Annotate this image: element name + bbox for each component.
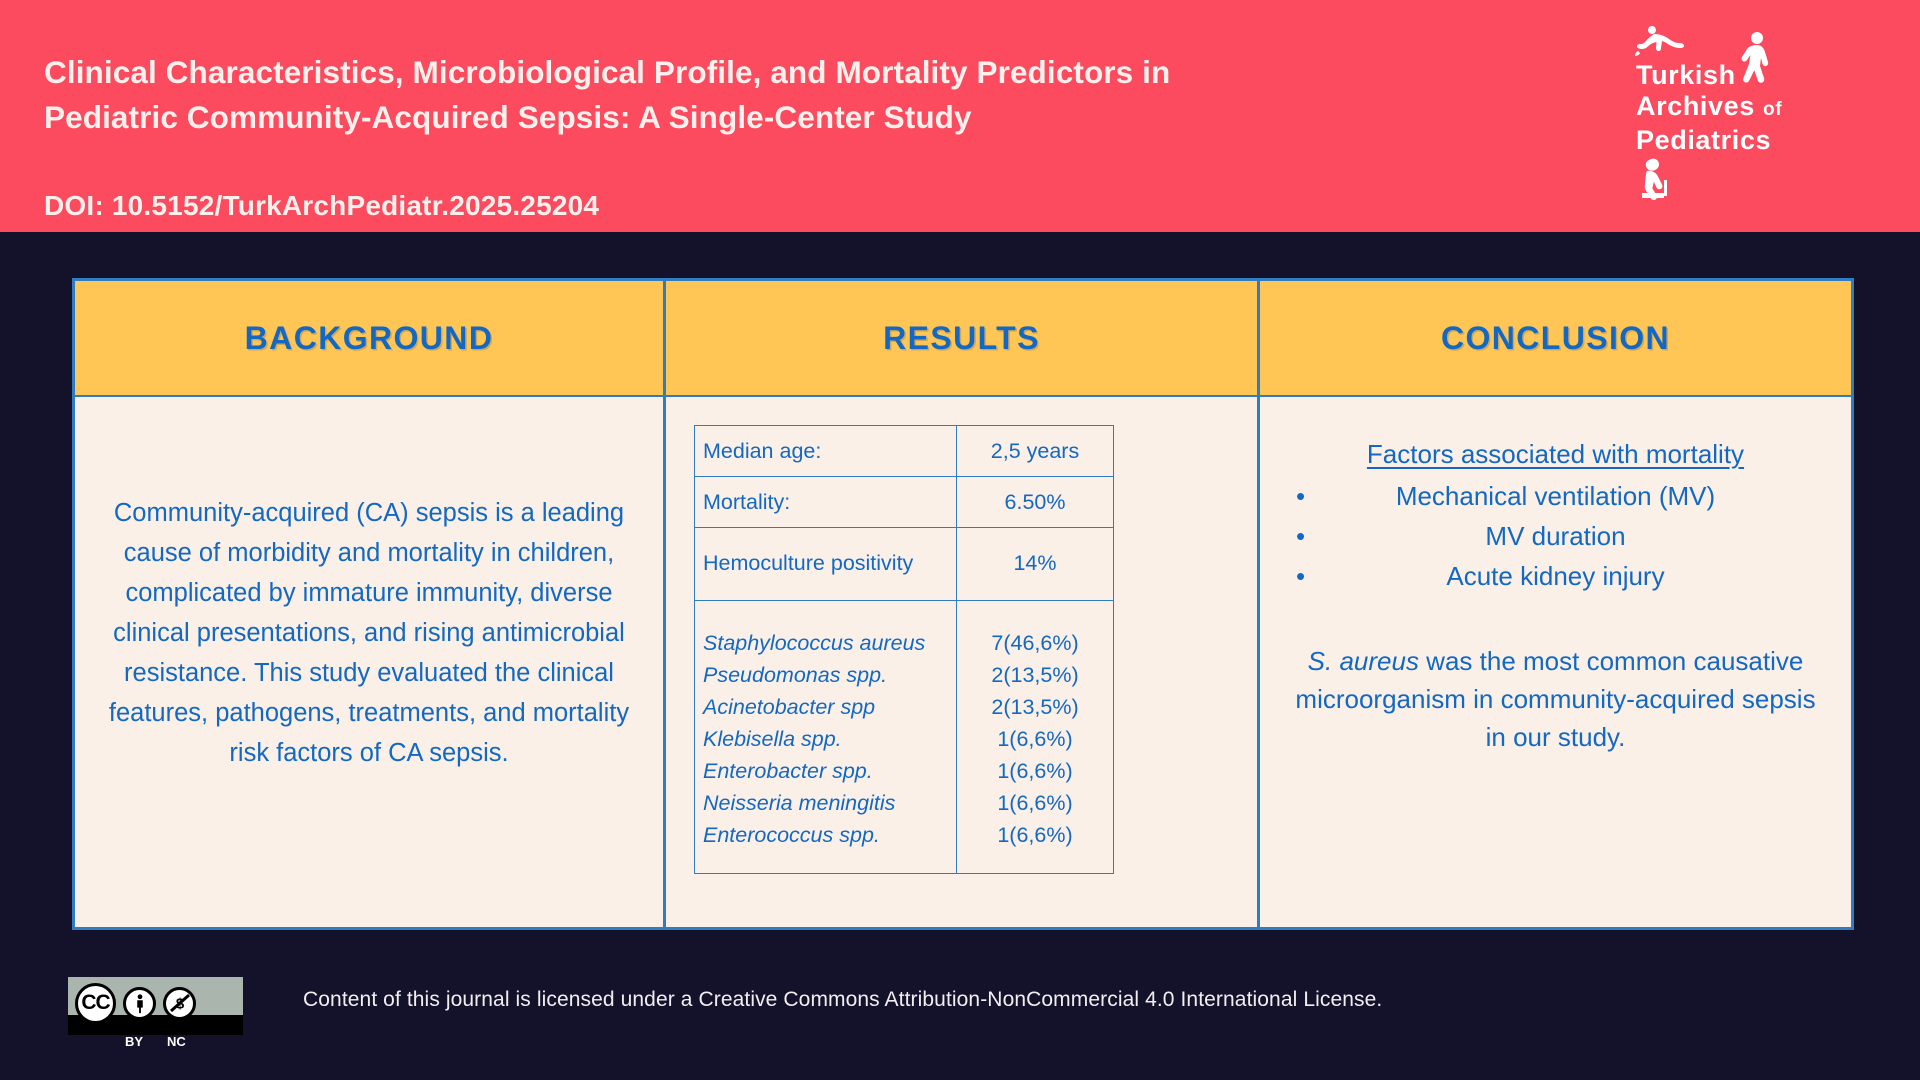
column-results: RESULTS Median age: 2,5 years Mortality:… — [666, 281, 1260, 927]
organism-count: 2(13,5%) — [957, 659, 1113, 691]
sitting-child-icon — [1634, 158, 1678, 200]
organism-count: 1(6,6%) — [957, 755, 1113, 787]
results-stat-value: 6.50% — [957, 477, 1113, 527]
cc-by-person-icon — [123, 987, 156, 1020]
results-inner-table: Median age: 2,5 years Mortality: 6.50% H… — [694, 425, 1114, 874]
organism-count: 1(6,6%) — [957, 787, 1113, 819]
creative-commons-badge: CC $ BY NC — [68, 977, 243, 1035]
list-item: MV duration — [1286, 516, 1825, 556]
results-stat-label: Mortality: — [695, 477, 957, 527]
results-stat-label: Hemoculture positivity — [695, 528, 957, 600]
logo-line-2: Archives of — [1636, 91, 1782, 125]
table-row: Mortality: 6.50% — [695, 477, 1113, 528]
cc-icon-row: CC $ — [68, 980, 243, 1026]
organism-name-list: Staphylococcus aureus Pseudomonas spp. A… — [695, 601, 957, 873]
cc-nc-nocommercial-icon: $ — [163, 987, 196, 1020]
conclusion-summary-organism: S. aureus — [1308, 646, 1419, 676]
header-band: Clinical Characteristics, Microbiologica… — [0, 0, 1920, 232]
organism-name: Enterobacter spp. — [703, 755, 956, 787]
poster-summary-table: BACKGROUND Community-acquired (CA) sepsi… — [72, 278, 1854, 930]
person-glyph-icon — [129, 992, 151, 1014]
organism-count: 7(46,6%) — [957, 627, 1113, 659]
column-header-conclusion-label: CONCLUSION — [1441, 320, 1670, 357]
column-header-background: BACKGROUND — [75, 281, 663, 397]
logo-line-3: Pediatrics — [1636, 125, 1782, 156]
organism-name: Neisseria meningitis — [703, 787, 956, 819]
mortality-factors-list: Mechanical ventilation (MV) MV duration … — [1286, 476, 1825, 596]
organism-name: Staphylococcus aureus — [703, 627, 956, 659]
results-stat-value: 14% — [957, 528, 1113, 600]
organism-count-list: 7(46,6%) 2(13,5%) 2(13,5%) 1(6,6%) 1(6,6… — [957, 601, 1113, 873]
logo-line-2-main: Archives — [1636, 91, 1755, 121]
background-paragraph: Community-acquired (CA) sepsis is a lead… — [93, 493, 645, 773]
organism-count: 2(13,5%) — [957, 691, 1113, 723]
page-title-line1: Clinical Characteristics, Microbiologica… — [44, 54, 1170, 90]
cc-nc-label: NC — [167, 1034, 186, 1049]
column-body-background: Community-acquired (CA) sepsis is a lead… — [75, 397, 663, 927]
list-item: Mechanical ventilation (MV) — [1286, 476, 1825, 516]
page-title: Clinical Characteristics, Microbiologica… — [44, 50, 1384, 140]
license-text: Content of this journal is licensed unde… — [303, 988, 1382, 1012]
mortality-factors-heading: Factors associated with mortality — [1286, 439, 1825, 470]
page-title-line2: Pediatric Community-Acquired Sepsis: A S… — [44, 95, 1384, 140]
column-body-conclusion: Factors associated with mortality Mechan… — [1260, 397, 1851, 927]
conclusion-summary: S. aureus was the most common causative … — [1286, 642, 1825, 756]
journal-logo: Turkish Archives of Pediatrics — [1628, 22, 1878, 207]
column-background: BACKGROUND Community-acquired (CA) sepsi… — [75, 281, 666, 927]
column-header-results-label: RESULTS — [883, 320, 1040, 357]
cc-logo-icon: CC — [75, 983, 116, 1024]
column-body-results: Median age: 2,5 years Mortality: 6.50% H… — [666, 397, 1257, 927]
organism-count: 1(6,6%) — [957, 723, 1113, 755]
table-row: Median age: 2,5 years — [695, 426, 1113, 477]
organism-name: Acinetobacter spp — [703, 691, 956, 723]
column-header-conclusion: CONCLUSION — [1260, 281, 1851, 397]
table-row-organisms: Staphylococcus aureus Pseudomonas spp. A… — [695, 601, 1113, 873]
cc-by-label: BY — [125, 1034, 143, 1049]
doi-text: DOI: 10.5152/TurkArchPediatr.2025.25204 — [44, 190, 599, 222]
table-row: Hemoculture positivity 14% — [695, 528, 1113, 601]
organism-name: Klebisella spp. — [703, 723, 956, 755]
logo-line-2-of: of — [1763, 99, 1782, 120]
results-stat-value: 2,5 years — [957, 426, 1113, 476]
logo-line-1: Turkish — [1636, 60, 1782, 91]
crawling-baby-icon — [1634, 26, 1686, 60]
column-header-results: RESULTS — [666, 281, 1257, 397]
organism-name: Pseudomonas spp. — [703, 659, 956, 691]
results-stat-label: Median age: — [695, 426, 957, 476]
journal-logo-text: Turkish Archives of Pediatrics — [1636, 60, 1782, 156]
organism-count: 1(6,6%) — [957, 819, 1113, 851]
list-item: Acute kidney injury — [1286, 556, 1825, 596]
organism-name: Enterococcus spp. — [703, 819, 956, 851]
column-conclusion: CONCLUSION Factors associated with morta… — [1260, 281, 1851, 927]
dollar-slash-glyph-icon: $ — [168, 991, 192, 1015]
column-header-background-label: BACKGROUND — [245, 320, 494, 357]
